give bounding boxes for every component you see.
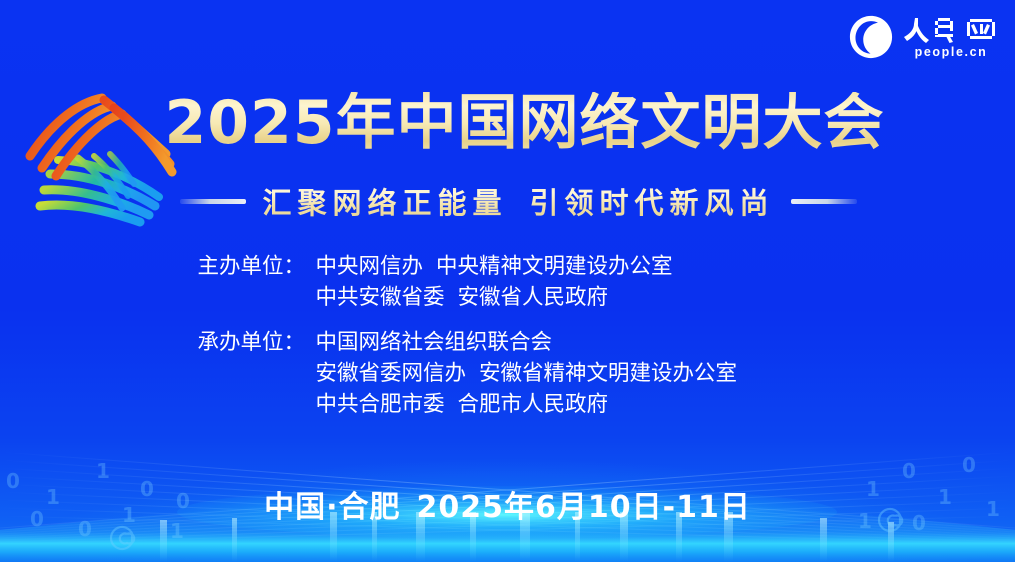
- svg-text:1: 1: [96, 459, 110, 483]
- organizing-unit-item: 中国网络社会组织联合会: [316, 330, 553, 355]
- people-cn-domain: people.cn: [915, 46, 988, 59]
- organizing-unit-value-2: 安徽省委网信办安徽省精神文明建设办公室: [316, 359, 818, 390]
- svg-text:0: 0: [962, 453, 976, 477]
- organizing-unit-group: 承办单位： 中国网络社会组织联合会 承办单位： 安徽省委网信办安徽省精神文明建设…: [198, 328, 818, 421]
- renminwang-logotype-icon: [903, 15, 999, 43]
- subtitle-dash-right: [791, 199, 857, 204]
- host-unit-line-1: 主办单位： 中央网信办中央精神文明建设办公室: [198, 252, 818, 283]
- host-unit-value-2: 中共安徽省委安徽省人民政府: [316, 283, 818, 314]
- organizing-unit-value-1: 中国网络社会组织联合会: [316, 328, 818, 359]
- svg-text:0: 0: [902, 459, 916, 483]
- people-cn-globe-icon: [848, 14, 894, 60]
- host-unit-line-2: 主办单位： 中共安徽省委安徽省人民政府: [198, 283, 818, 314]
- subtitle-part-two: 引领时代新风尚: [530, 186, 775, 220]
- host-unit-item: 中央精神文明建设办公室: [436, 254, 673, 279]
- host-unit-item: 中共安徽省委: [316, 285, 445, 310]
- host-unit-item: 安徽省人民政府: [458, 285, 609, 310]
- people-cn-wordmark: people.cn: [903, 15, 999, 59]
- host-unit-item: 中央网信办: [316, 254, 424, 279]
- page-title: 2025年中国网络文明大会: [131, 92, 885, 155]
- subtitle-dash-left: [180, 199, 246, 204]
- conference-arc-emblem-icon: [18, 84, 183, 234]
- organizing-unit-item: 安徽省委网信办: [316, 361, 467, 386]
- host-unit-label: 主办单位：: [198, 252, 316, 283]
- subtitle-text: 汇聚网络正能量引领时代新风尚: [262, 180, 774, 222]
- footer-date: 2025年6月10日-11日: [417, 490, 751, 525]
- organizing-unit-item: 安徽省精神文明建设办公室: [479, 361, 737, 386]
- organizer-block: 主办单位： 中央网信办中央精神文明建设办公室 主办单位： 中共安徽省委安徽省人民…: [0, 252, 1015, 421]
- organizing-unit-line-2: 承办单位： 安徽省委网信办安徽省精神文明建设办公室: [198, 359, 818, 390]
- people-cn-brand[interactable]: people.cn: [848, 14, 999, 60]
- host-unit-group: 主办单位： 中央网信办中央精神文明建设办公室 主办单位： 中共安徽省委安徽省人民…: [198, 252, 818, 314]
- organizing-unit-label: 承办单位：: [198, 328, 316, 359]
- subtitle-part-one: 汇聚网络正能量: [262, 186, 507, 220]
- organizing-unit-value-3: 中共合肥市委合肥市人民政府: [316, 390, 818, 421]
- organizing-unit-line-3: 承办单位： 中共合肥市委合肥市人民政府: [198, 390, 818, 421]
- organizing-unit-item: 合肥市人民政府: [458, 392, 609, 417]
- conference-poster: 0 1 1 0 0 0 1 1 0 1 0 1 0 1 0 1: [0, 0, 1015, 562]
- organizing-unit-item: 中共合肥市委: [316, 392, 445, 417]
- host-unit-value-1: 中央网信办中央精神文明建设办公室: [316, 252, 818, 283]
- organizing-unit-line-1: 承办单位： 中国网络社会组织联合会: [198, 328, 818, 359]
- footer-location-date: 中国·合肥2025年6月10日-11日: [0, 482, 1015, 526]
- footer-location: 中国·合肥: [264, 490, 400, 525]
